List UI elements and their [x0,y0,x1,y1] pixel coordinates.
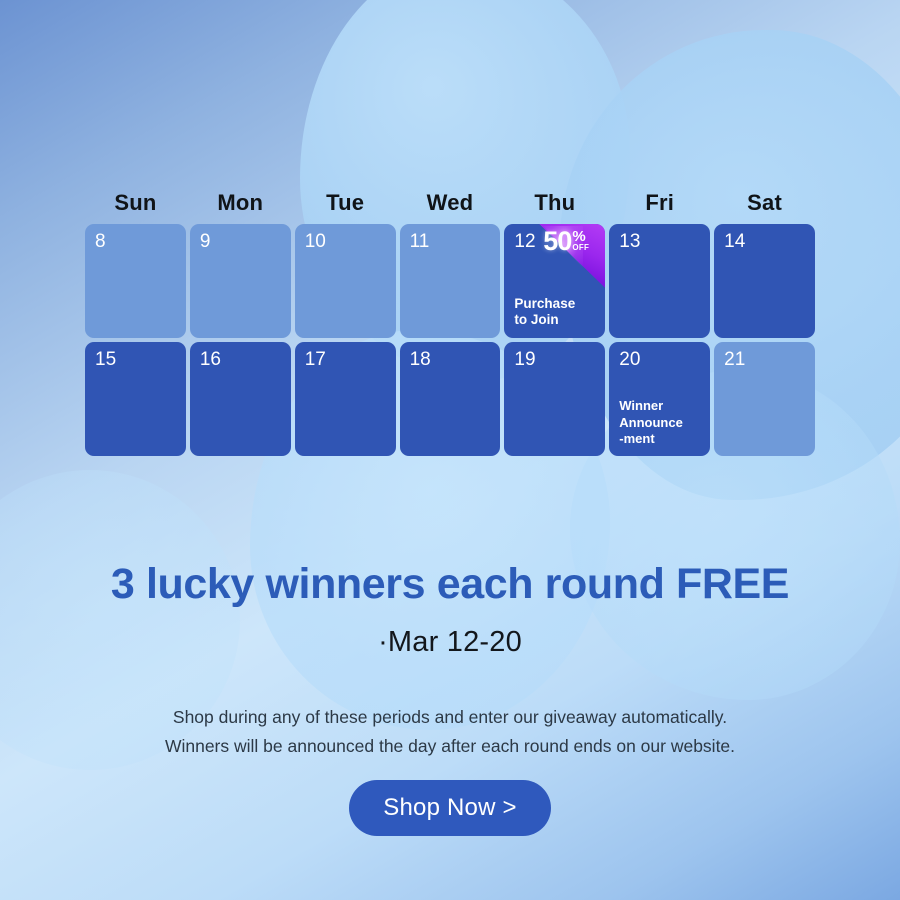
day-cell-20[interactable]: 20 Winner Announce -ment [609,342,710,456]
day-cell-10[interactable]: 10 [295,224,396,338]
calendar-week-row: 15 16 17 18 19 20 Winner Announce -ment [85,342,815,456]
badge-percent-sign: % [572,230,585,244]
weekday-label-fri: Fri [609,190,710,216]
day-cell-note-line: Purchase [514,296,599,312]
badge-number: 50 [543,229,571,254]
day-cell-18[interactable]: 18 [400,342,501,456]
day-cell-note-line: to Join [514,312,599,328]
day-number: 21 [724,350,805,369]
day-cell-17[interactable]: 17 [295,342,396,456]
badge-off-label: OFF [572,244,589,252]
day-cell-note-line: Announce [619,415,704,432]
weekday-label-wed: Wed [400,190,501,216]
promo-date-range: ·Mar 12-20 [0,626,900,659]
promo-headline: 3 lucky winners each round FREE [0,560,900,609]
discount-badge-icon: 50 % OFF [539,224,605,288]
promo-description-line: Shop during any of these periods and ent… [0,703,900,732]
day-number: 14 [724,232,805,251]
day-cell-14[interactable]: 14 [714,224,815,338]
weekday-label-thu: Thu [504,190,605,216]
day-cell-8[interactable]: 8 [85,224,186,338]
day-number: 20 [619,350,700,369]
weekday-label-sat: Sat [714,190,815,216]
weekday-label-sun: Sun [85,190,186,216]
day-number: 8 [95,232,176,251]
day-cell-11[interactable]: 11 [400,224,501,338]
day-cell-15[interactable]: 15 [85,342,186,456]
day-number: 13 [619,232,700,251]
day-number: 18 [410,350,491,369]
promo-description-line: Winners will be announced the day after … [0,732,900,761]
day-cell-note: Winner Announce -ment [619,398,704,448]
day-number: 15 [95,350,176,369]
day-cell-12[interactable]: 12 50 % OFF Purchase to Join [504,224,605,338]
day-number: 17 [305,350,386,369]
weekday-label-mon: Mon [190,190,291,216]
day-cell-note-line: Winner [619,398,704,415]
promo-calendar: Sun Mon Tue Wed Thu Fri Sat 8 9 10 11 12 [85,190,815,460]
day-number: 16 [200,350,281,369]
calendar-week-row: 8 9 10 11 12 50 % [85,224,815,338]
day-cell-note-line: -ment [619,431,704,448]
day-cell-9[interactable]: 9 [190,224,291,338]
weekday-label-tue: Tue [295,190,396,216]
day-number: 19 [514,350,595,369]
shop-now-button[interactable]: Shop Now > [349,780,550,836]
day-number: 9 [200,232,281,251]
day-cell-16[interactable]: 16 [190,342,291,456]
day-cell-19[interactable]: 19 [504,342,605,456]
promo-description: Shop during any of these periods and ent… [0,703,900,761]
cta-container: Shop Now > [0,780,900,836]
calendar-weekday-header: Sun Mon Tue Wed Thu Fri Sat [85,190,815,216]
day-cell-21[interactable]: 21 [714,342,815,456]
day-cell-13[interactable]: 13 [609,224,710,338]
promo-banner: Sun Mon Tue Wed Thu Fri Sat 8 9 10 11 12 [0,0,900,900]
badge-suffix: % OFF [572,230,589,252]
day-cell-note: Purchase to Join [514,296,599,328]
badge-text: 50 % OFF [543,229,589,254]
day-number: 11 [410,232,491,251]
day-number: 10 [305,232,386,251]
